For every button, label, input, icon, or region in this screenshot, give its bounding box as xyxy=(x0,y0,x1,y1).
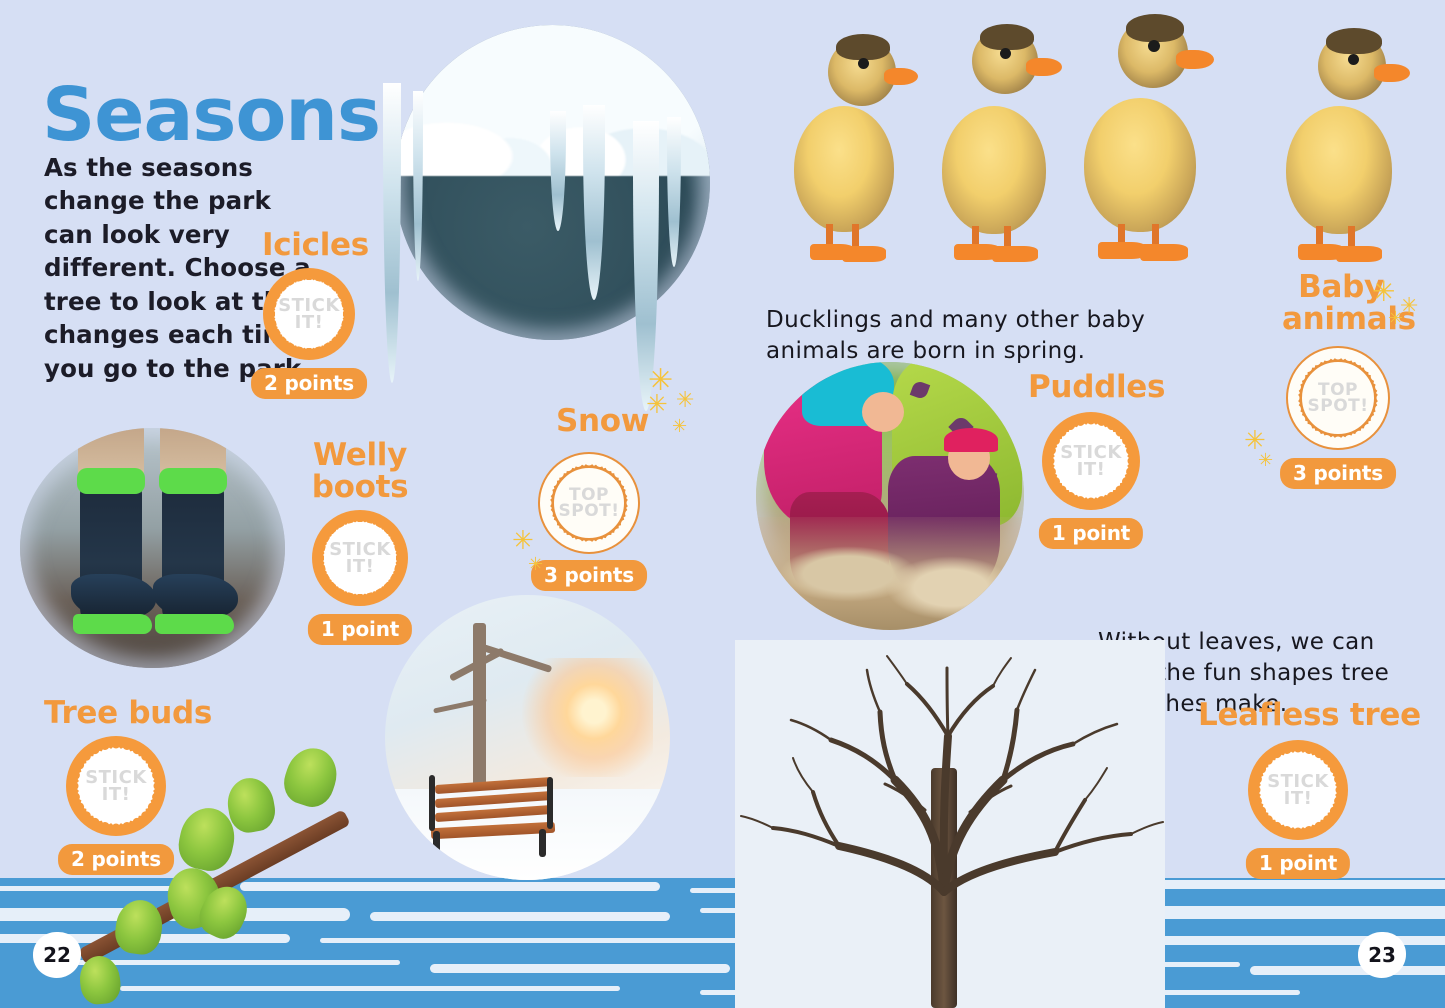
sparkle-icon: ✳ xyxy=(676,390,694,412)
item-label-leafless-tree: Leafless tree xyxy=(1198,700,1421,732)
sparkle-icon: ✳ xyxy=(528,556,543,574)
page-number-left: 22 xyxy=(33,932,81,978)
sparkle-icon: ✳ xyxy=(672,418,687,436)
points-pill: 1 point xyxy=(308,614,412,645)
leafless-tree-photo xyxy=(735,640,1165,1008)
badge-welly-boots[interactable]: STICK IT! 1 point xyxy=(312,510,408,606)
sparkle-icon: ✳ xyxy=(1258,452,1273,470)
badge-leafless-tree[interactable]: STICK IT! 1 point xyxy=(1248,740,1348,840)
boot-right xyxy=(162,480,224,630)
duckling xyxy=(938,22,1058,268)
page-title: Seasons xyxy=(42,78,380,152)
badge-baby-animals[interactable]: TOP SPOT! 3 points xyxy=(1286,346,1390,450)
points-pill: 1 point xyxy=(1039,518,1143,549)
welly-boots-photo xyxy=(20,428,285,668)
duckling xyxy=(790,28,910,268)
boot-left xyxy=(80,480,142,630)
sparkle-icon: ✳ xyxy=(1372,278,1395,306)
sparkle-icon: ✳ xyxy=(512,528,534,554)
badge-puddles[interactable]: STICK IT! 1 point xyxy=(1042,412,1140,510)
points-pill: 1 point xyxy=(1246,848,1350,879)
puddle-splash-photo xyxy=(756,362,1024,630)
sunset-glow xyxy=(522,658,653,778)
welly-label-line2: boots xyxy=(310,472,410,504)
page-number-right: 23 xyxy=(1358,932,1406,978)
snowy-bench-photo xyxy=(385,595,670,880)
tree-branches xyxy=(735,640,1165,1008)
points-pill: 2 points xyxy=(251,368,367,399)
book-spread: Seasons As the seasons change the park c… xyxy=(0,0,1445,1008)
item-label-welly-boots: Welly boots xyxy=(310,440,410,503)
baby-label-line2: animals xyxy=(1282,304,1400,336)
sparkle-icon: ✳ xyxy=(1388,310,1403,328)
sparkle-icon: ✳ xyxy=(646,392,668,418)
caption-spring: Ducklings and many other baby animals ar… xyxy=(766,305,1236,367)
icicle-drips xyxy=(395,25,725,415)
item-label-snow: Snow xyxy=(556,406,649,438)
points-pill: 3 points xyxy=(531,560,647,591)
duckling xyxy=(1078,16,1208,268)
badge-snow[interactable]: TOP SPOT! 3 points xyxy=(538,452,640,554)
welly-label-line1: Welly xyxy=(310,440,410,472)
ducklings-photo xyxy=(790,12,1410,274)
tree-buds-photo xyxy=(60,700,390,1008)
item-label-puddles: Puddles xyxy=(1028,372,1165,404)
points-pill: 3 points xyxy=(1280,458,1396,489)
item-label-icicles: Icicles xyxy=(262,230,369,262)
badge-icicles[interactable]: STICK IT! 2 points xyxy=(263,268,355,360)
duckling xyxy=(1280,26,1410,272)
park-bench xyxy=(427,775,557,855)
